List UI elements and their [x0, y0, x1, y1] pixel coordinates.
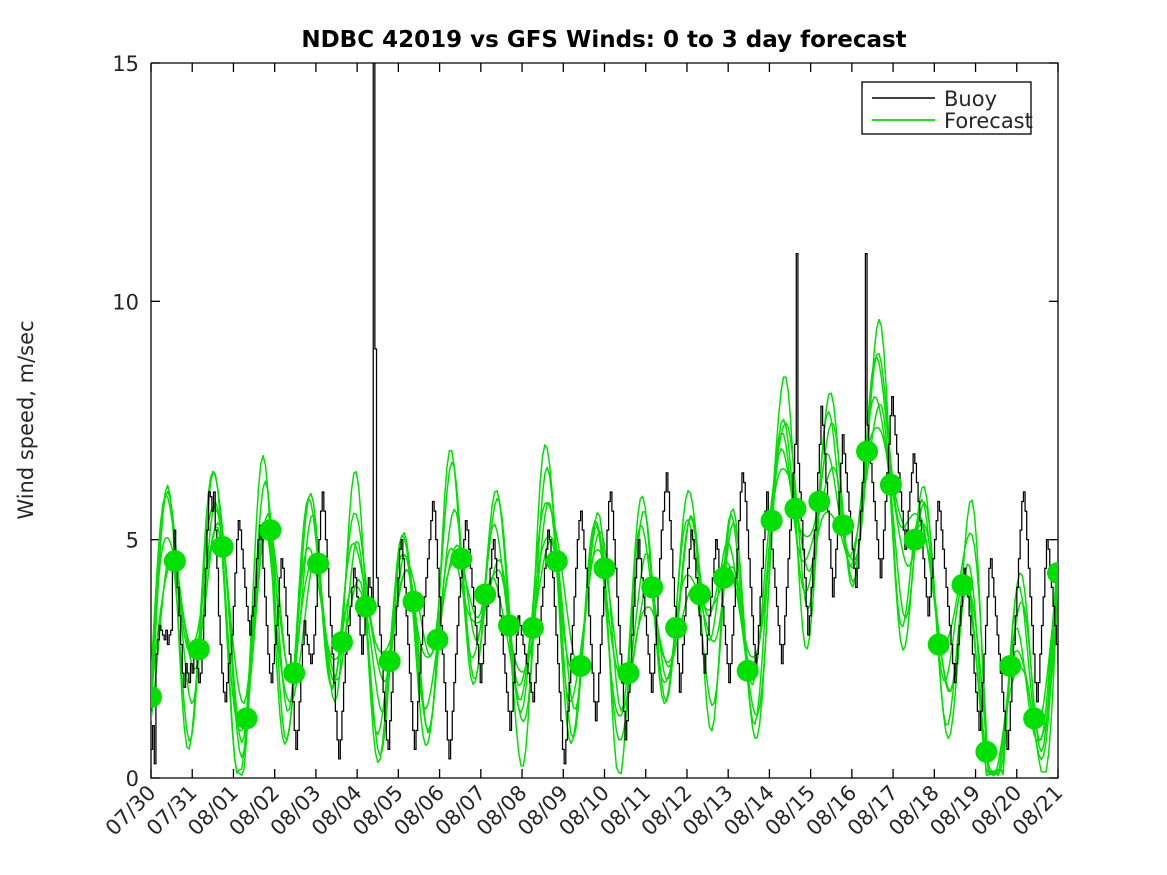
forecast-marker — [474, 583, 496, 605]
forecast-marker — [355, 595, 377, 617]
forecast-marker — [928, 634, 950, 656]
chart-legend[interactable]: Buoy Forecast — [862, 82, 1033, 134]
forecast-marker — [188, 638, 210, 660]
legend-label-forecast: Forecast — [944, 109, 1033, 133]
forecast-marker — [952, 574, 974, 596]
forecast-marker — [832, 514, 854, 536]
forecast-marker — [331, 631, 353, 653]
chart-title: NDBC 42019 vs GFS Winds: 0 to 3 day fore… — [301, 27, 906, 53]
y-tick-label: 5 — [126, 529, 139, 553]
forecast-marker — [450, 548, 472, 570]
forecast-marker — [617, 662, 639, 684]
forecast-marker — [498, 614, 520, 636]
y-tick-label: 15 — [112, 52, 139, 76]
forecast-marker — [594, 557, 616, 579]
forecast-marker — [880, 474, 902, 496]
forecast-marker — [856, 440, 878, 462]
y-axis-label: Wind speed, m/sec — [14, 320, 38, 519]
figure-canvas: NDBC 42019 vs GFS Winds: 0 to 3 day fore… — [0, 0, 1167, 875]
forecast-marker — [522, 617, 544, 639]
forecast-marker — [426, 629, 448, 651]
forecast-marker — [546, 550, 568, 572]
forecast-marker — [164, 550, 186, 572]
forecast-marker — [259, 519, 281, 541]
forecast-marker — [975, 741, 997, 763]
forecast-marker — [999, 655, 1021, 677]
forecast-marker — [665, 617, 687, 639]
forecast-marker — [713, 567, 735, 589]
forecast-marker — [641, 576, 663, 598]
forecast-marker — [808, 491, 830, 513]
forecast-marker — [307, 553, 329, 575]
legend-label-buoy: Buoy — [944, 87, 997, 111]
forecast-marker — [212, 536, 234, 558]
y-tick-label: 10 — [112, 290, 139, 314]
forecast-marker — [737, 660, 759, 682]
forecast-marker — [784, 498, 806, 520]
forecast-marker — [761, 510, 783, 532]
forecast-marker — [403, 591, 425, 613]
forecast-marker — [379, 650, 401, 672]
forecast-marker — [1023, 707, 1045, 729]
forecast-marker — [689, 583, 711, 605]
forecast-marker — [283, 662, 305, 684]
wind-speed-chart: NDBC 42019 vs GFS Winds: 0 to 3 day fore… — [0, 0, 1167, 875]
forecast-marker — [570, 655, 592, 677]
forecast-marker — [904, 529, 926, 551]
forecast-marker — [235, 707, 257, 729]
